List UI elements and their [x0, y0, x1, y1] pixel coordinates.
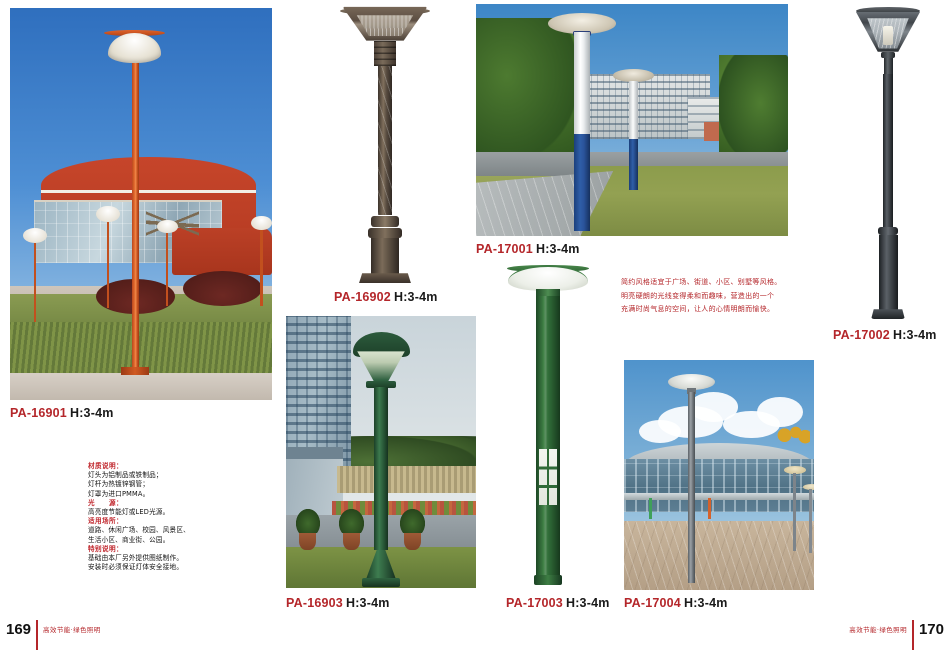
fluted-pole [378, 66, 392, 215]
page-number-left: 169 [6, 621, 31, 638]
page-number-right: 170 [919, 621, 944, 638]
tree-row-right [719, 55, 788, 162]
product-height: H:3-4m [536, 242, 580, 256]
product-height: H:3-4m [394, 290, 438, 304]
product-photo-pa-16901[interactable] [10, 8, 272, 400]
product-height: H:3-4m [566, 596, 610, 610]
purple-shrub [183, 271, 262, 306]
entrance-canopy [624, 493, 814, 500]
product-photo-pa-17002[interactable] [838, 4, 938, 322]
lamp-pole [132, 59, 139, 373]
pole-collar [368, 228, 401, 238]
lawn-foreground [582, 166, 788, 236]
spec-material-line: 灯杆为热镀锌钢管； [88, 480, 238, 489]
pole-collar [371, 216, 399, 227]
spec-material-line: 灯罩为进口PMMA。 [88, 490, 238, 499]
product-label-pa-17001: PA-17001H:3-4m [476, 242, 580, 256]
spec-special-heading: 特别说明： [88, 545, 238, 554]
description-line: 明亮硬朗的光线变得柔和而趣味，营造出的一个 [621, 290, 821, 304]
product-code: PA-16903 [286, 596, 343, 610]
blue-column [629, 139, 638, 190]
product-photo-pa-17003[interactable] [500, 258, 596, 588]
spec-application-line: 道路、休闲广场、校园、风景区、 [88, 526, 238, 535]
product-label-pa-16901: PA-16901H:3-4m [10, 406, 114, 420]
product-code: PA-17004 [624, 596, 681, 610]
spec-material-heading: 材质说明： [88, 462, 238, 471]
banner [708, 498, 711, 519]
spec-application-line: 生活小区、商业街、公园。 [88, 536, 238, 545]
product-photo-pa-17004[interactable] [624, 360, 814, 590]
distant-lamp [96, 206, 120, 308]
product-height: H:3-4m [684, 596, 728, 610]
inner-lamp [883, 26, 893, 45]
plaza-paving [624, 521, 814, 590]
white-column [629, 81, 638, 139]
base-plate [362, 578, 400, 586]
distant-lamp-pole [793, 473, 796, 551]
product-code: PA-16902 [334, 290, 391, 304]
footer-left: 169 高效节能·绿色照明 [6, 618, 101, 640]
specification-block: 材质说明： 灯头为铝制品或铁制品； 灯杆为热镀锌钢管； 灯罩为进口PMMA。 光… [88, 462, 238, 572]
lit-grid-window [539, 449, 556, 505]
product-code: PA-17001 [476, 242, 533, 256]
product-code: PA-17002 [833, 328, 890, 342]
pole-base [371, 238, 399, 275]
product-label-pa-16902: PA-16902H:3-4m [334, 290, 438, 304]
base-plate [359, 273, 411, 283]
blue-column [574, 134, 590, 231]
product-photo-pa-17001[interactable] [476, 4, 788, 236]
distant-lamp [157, 220, 178, 306]
spec-light-source-heading: 光 源： [88, 499, 238, 508]
product-photo-pa-16903[interactable] [286, 316, 476, 588]
pole-ring [878, 227, 898, 235]
description-line: 简约风格适宜于广场、街道、小区、别墅等风格。 [621, 276, 821, 290]
style-description: 简约风格适宜于广场、街道、小区、别墅等风格。 明亮硬朗的光线变得柔和而趣味，营造… [621, 276, 821, 317]
foreground-paving [10, 373, 272, 400]
footer-divider [36, 620, 38, 650]
lamp-base [121, 367, 149, 374]
footer-tagline-right: 高效节能·绿色照明 [849, 624, 907, 634]
lamp-dome-shade [108, 33, 160, 62]
spec-special-line: 安装时必须保证灯体安全接地。 [88, 563, 238, 572]
lamp-neck [374, 41, 395, 66]
planter-pot [299, 528, 316, 550]
product-label-pa-16903: PA-16903H:3-4m [286, 596, 390, 610]
distant-lamp [23, 228, 47, 322]
green-column [536, 296, 559, 580]
product-height: H:3-4m [346, 596, 390, 610]
planter-pot [343, 528, 360, 550]
lamp-pole [883, 74, 893, 227]
product-label-pa-17004: PA-17004H:3-4m [624, 596, 728, 610]
product-height: H:3-4m [70, 406, 114, 420]
pergola-walkway [337, 466, 476, 493]
product-photo-pa-16902[interactable] [326, 4, 444, 286]
tapered-pole [374, 387, 387, 550]
product-code: PA-16901 [10, 406, 67, 420]
footer-tagline-left: 高效节能·绿色照明 [43, 624, 101, 634]
spec-light-source-line: 高亮度节能灯或LED光源。 [88, 508, 238, 517]
distant-lamp [251, 216, 272, 306]
lamp-neck [884, 58, 893, 74]
description-line: 充满时尚气息的空间，让人的心情明朗而愉快。 [621, 303, 821, 317]
footer-right: 高效节能·绿色照明 170 [849, 618, 944, 640]
planter-pot [404, 528, 421, 550]
base-plate [871, 309, 905, 319]
cloud [757, 397, 803, 427]
product-height: H:3-4m [893, 328, 937, 342]
cloud [639, 420, 681, 443]
spec-special-line: 基础由本厂另外提供图纸制作。 [88, 554, 238, 563]
product-code: PA-17003 [506, 596, 563, 610]
white-column [574, 32, 590, 134]
distant-lamp-pole [809, 489, 812, 553]
footer-divider [912, 620, 914, 650]
column-foot [534, 575, 563, 585]
pole-base [879, 235, 898, 311]
product-label-pa-17003: PA-17003H:3-4m [506, 596, 610, 610]
tree-row-left [476, 18, 579, 162]
product-label-pa-17002: PA-17002H:3-4m [833, 328, 937, 342]
banner [649, 498, 652, 519]
lamp-pole [688, 392, 696, 583]
catalog-page: PA-16901H:3-4m PA-16902H:3-4m [0, 0, 950, 654]
